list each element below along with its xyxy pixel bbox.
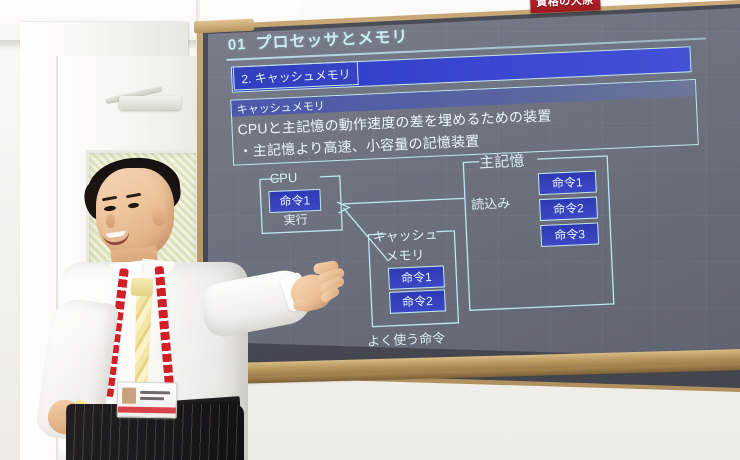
badge-photo [122,388,136,404]
cache-item-0: 命令1 [388,265,445,289]
cache-label-line1: キャッシュ [372,224,438,246]
cache-label-line2: メモリ [385,244,425,265]
presenter [0,0,340,460]
cache-item-1: 命令2 [389,289,446,313]
hand-thumb [293,299,314,312]
badge-text-line [140,397,164,400]
main-memory-label: 主記憶 [479,150,525,173]
cache-caption: よく使う命令 [367,327,446,349]
necktie-knot [131,277,154,296]
badge-stripe [118,406,176,413]
presenter-nose [106,214,115,228]
memory-read-label: 読込み [471,192,511,213]
badge-text-line [140,391,170,394]
memory-item-0: 命令1 [538,171,597,196]
memory-item-2: 命令3 [540,223,599,248]
memory-item-1: 命令2 [539,197,598,222]
screenshot-root: 資格の大原 01プロセッサとメモリ 2. キャッシュメモリ キャッシュメモリ C… [0,0,740,460]
presenter-ear [152,204,167,226]
id-badge [117,381,178,418]
